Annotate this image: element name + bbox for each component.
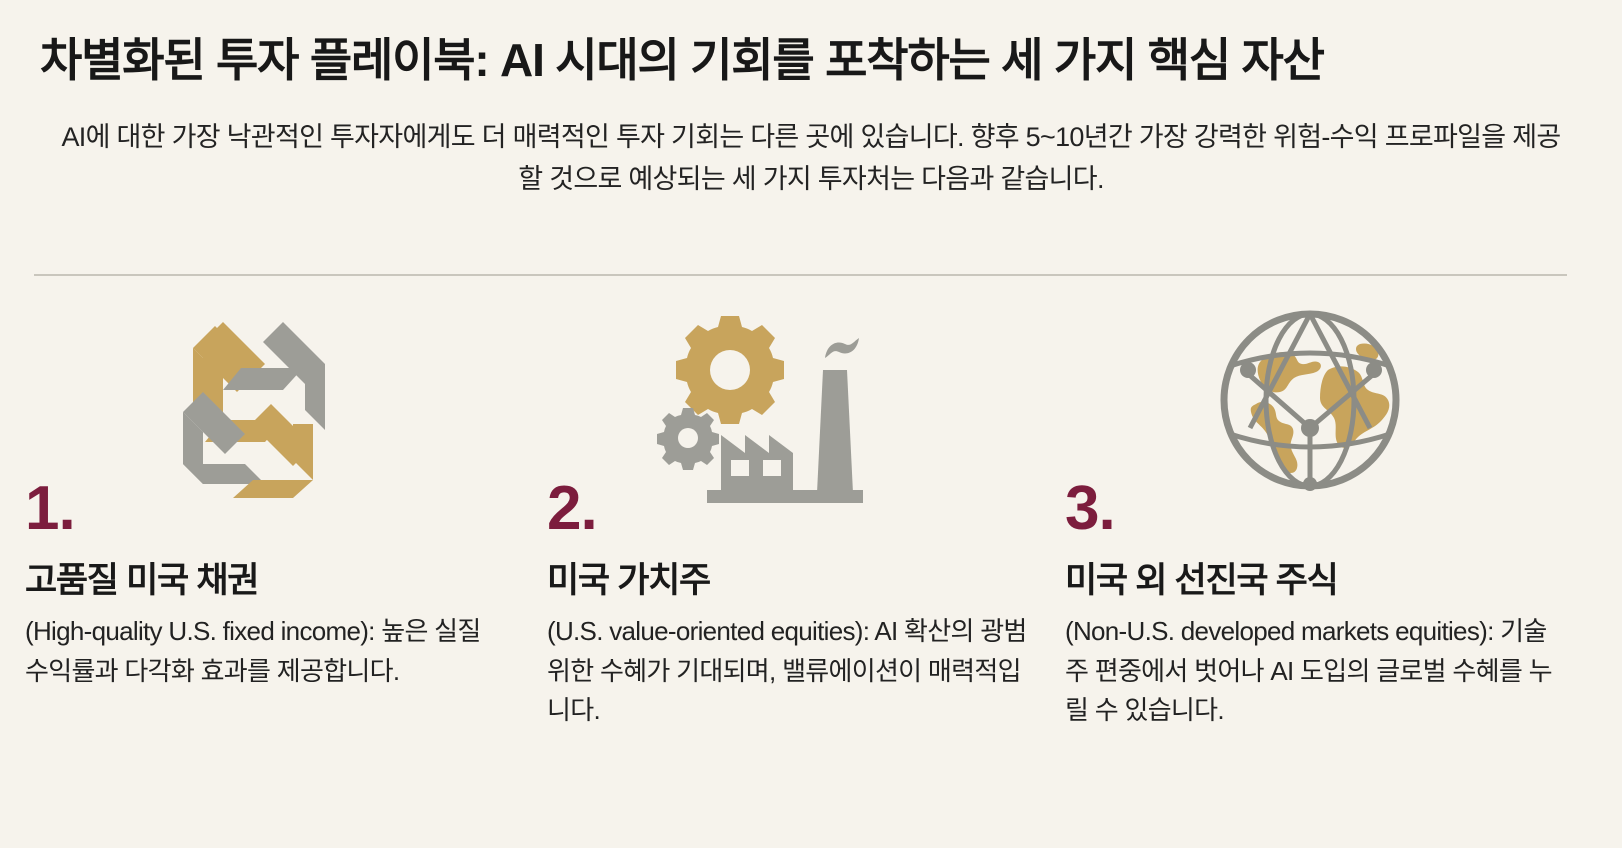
header-section: 차별화된 투자 플레이북: AI 시대의 기회를 포착하는 세 가지 핵심 자산… xyxy=(0,0,1622,201)
item-number-1: 1. xyxy=(25,478,75,540)
item-card-2: 2. 미국 가치주 (U.S. value-oriented equities)… xyxy=(547,300,1067,848)
item-title-3: 미국 외 선진국 주식 xyxy=(1065,562,1337,601)
item-card-1: 1. 고품질 미국 채권 (High-quality U.S. fixed in… xyxy=(25,300,545,848)
interlocking-links-icon xyxy=(25,308,545,498)
header-divider xyxy=(34,274,1567,276)
item-card-3: 3. 미국 외 선진국 주식 (Non-U.S. developed marke… xyxy=(1065,300,1585,848)
item-description-1: (High-quality U.S. fixed income): 높은 실질 … xyxy=(25,612,505,691)
item-number-2: 2. xyxy=(547,478,597,540)
item-title-1: 고품질 미국 채권 xyxy=(25,562,258,601)
page-title: 차별화된 투자 플레이북: AI 시대의 기회를 포착하는 세 가지 핵심 자산 xyxy=(40,34,1582,87)
item-number-3: 3. xyxy=(1065,478,1115,540)
items-container: 1. 고품질 미국 채권 (High-quality U.S. fixed in… xyxy=(0,300,1622,848)
item-description-3: (Non-U.S. developed markets equities): 기… xyxy=(1065,612,1560,731)
globe-network-icon xyxy=(1065,308,1585,498)
page-subtitle: AI에 대한 가장 낙관적인 투자자에게도 더 매력적인 투자 기회는 다른 곳… xyxy=(40,117,1582,201)
factory-gears-icon xyxy=(547,308,1067,498)
item-description-2: (U.S. value-oriented equities): AI 확산의 광… xyxy=(547,612,1027,731)
item-title-2: 미국 가치주 xyxy=(547,562,710,601)
